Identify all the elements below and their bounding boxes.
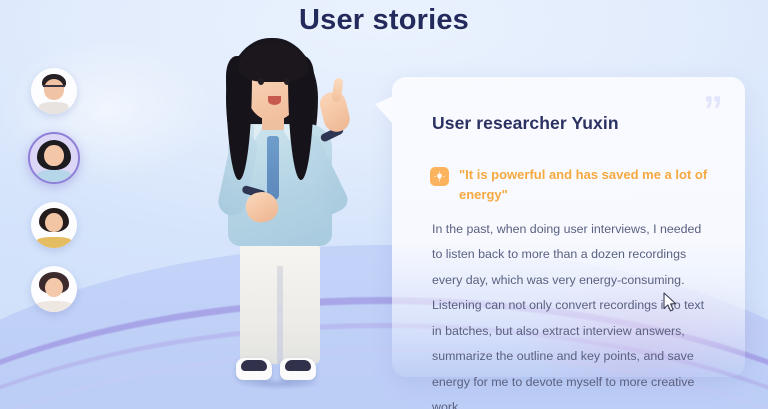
glasses-icon <box>43 85 64 89</box>
character-shoe-left <box>236 358 272 380</box>
avatar-portrait-3 <box>31 202 77 248</box>
character-tie <box>267 136 279 200</box>
avatar-skin-3 <box>45 213 62 232</box>
avatar-portrait-2 <box>30 134 78 182</box>
testimonial-author: User researcher Yuxin <box>432 113 619 134</box>
character-leg-gap <box>277 266 283 364</box>
avatar-skin-4 <box>45 278 62 297</box>
avatar-portrait-1 <box>31 68 77 114</box>
character-eye-left <box>258 78 264 85</box>
avatar-skin-2 <box>44 145 63 166</box>
avatar-item-2-selected[interactable] <box>28 132 80 184</box>
testimonial-highlight-row: "It is powerful and has saved me a lot o… <box>430 165 717 204</box>
testimonial-highlight: "It is powerful and has saved me a lot o… <box>459 165 717 204</box>
character-illustration <box>196 30 364 375</box>
avatar-body-3 <box>36 237 72 248</box>
avatar-body-2 <box>37 170 71 182</box>
quote-mark-icon: ” <box>703 91 723 131</box>
avatar-item-3[interactable] <box>31 202 77 248</box>
character-shoe-right <box>280 358 316 380</box>
avatar-body-4 <box>36 301 73 312</box>
avatar-item-1[interactable] <box>31 68 77 114</box>
character-mouth <box>268 96 281 105</box>
testimonial-body: In the past, when doing user interviews,… <box>432 217 715 409</box>
avatar-portrait-4 <box>31 266 77 312</box>
testimonial-card: ” User researcher Yuxin "It is powerful … <box>392 77 745 377</box>
lightbulb-icon <box>430 167 449 186</box>
avatar-rail <box>31 68 80 312</box>
character-eye-right <box>284 78 290 85</box>
speech-bubble-tail <box>375 96 393 124</box>
avatar-body-1 <box>39 102 69 114</box>
user-stories-stage: User stories <box>0 0 768 409</box>
page-title: User stories <box>0 4 768 37</box>
avatar-item-4[interactable] <box>31 266 77 312</box>
